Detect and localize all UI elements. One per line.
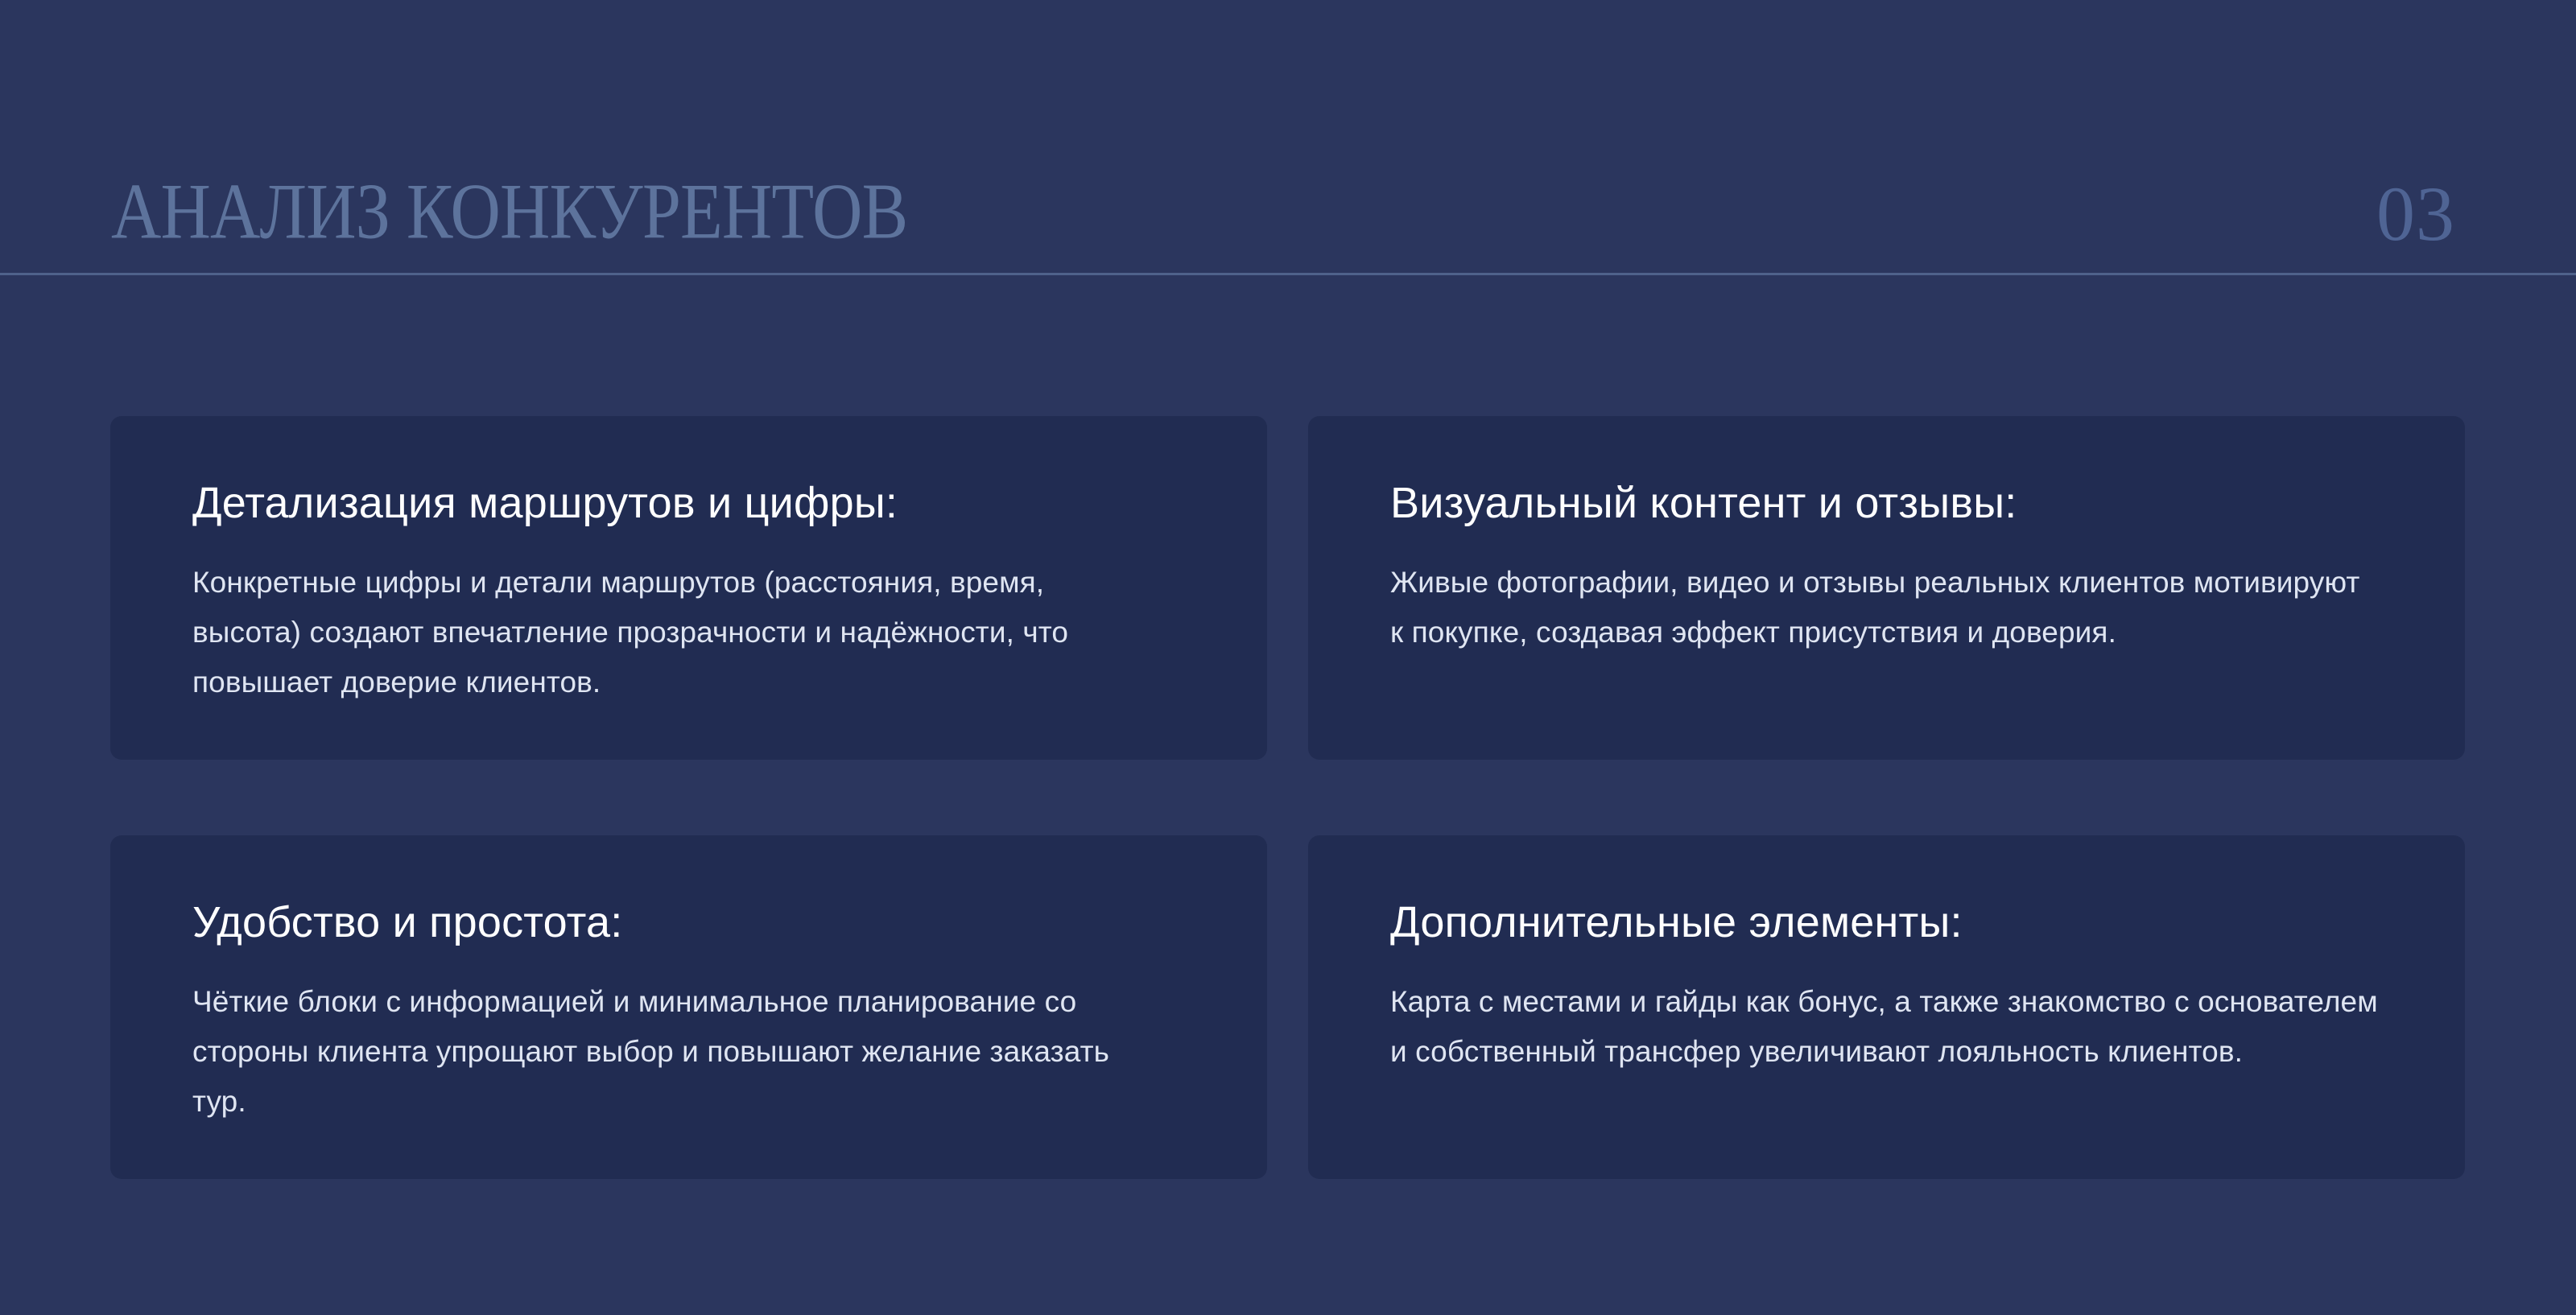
page-title: Анализ конкурентов <box>111 172 907 252</box>
content-card: Визуальный контент и отзывы: Живые фотог… <box>1308 416 2465 760</box>
header-divider <box>0 273 2576 275</box>
card-body-text: Живые фотографии, видео и отзывы реальны… <box>1390 558 2380 657</box>
presentation-slide: Анализ конкурентов 03 Детализация маршру… <box>0 0 2576 1315</box>
content-card: Удобство и простота: Чёткие блоки с инфо… <box>110 835 1267 1179</box>
content-card: Детализация маршрутов и цифры: Конкретны… <box>110 416 1267 760</box>
content-card-grid: Детализация маршрутов и цифры: Конкретны… <box>110 416 2465 1179</box>
card-title: Дополнительные элементы: <box>1390 898 2384 946</box>
card-title: Удобство и простота: <box>192 898 1187 946</box>
card-body-text: Карта с местами и гайды как бонус, а так… <box>1390 977 2380 1077</box>
slide-number: 03 <box>2376 172 2455 256</box>
content-card: Дополнительные элементы: Карта с местами… <box>1308 835 2465 1179</box>
slide-header: Анализ конкурентов 03 <box>0 0 2576 274</box>
card-title: Визуальный контент и отзывы: <box>1390 479 2384 527</box>
card-body-text: Чёткие блоки с информацией и минимальное… <box>192 977 1166 1127</box>
card-title: Детализация маршрутов и цифры: <box>192 479 1187 527</box>
card-body-text: Конкретные цифры и детали маршрутов (рас… <box>192 558 1142 707</box>
